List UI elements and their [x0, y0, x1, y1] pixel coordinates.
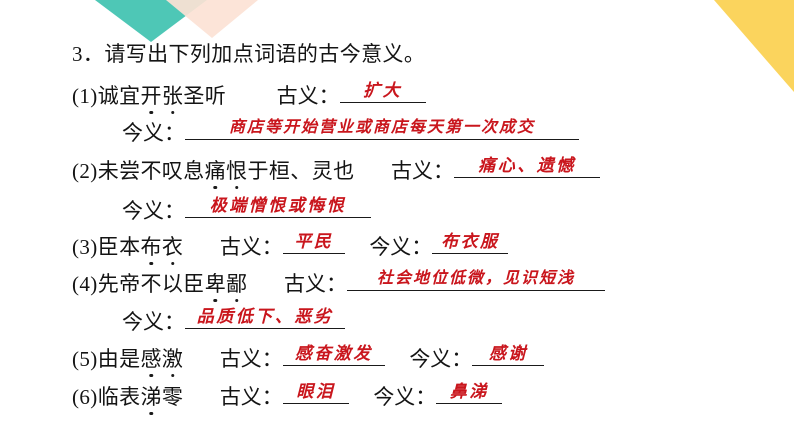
item-5-ancient-answer: 感奋激发	[295, 345, 373, 362]
item-3-ancient-answer: 平民	[294, 233, 333, 250]
item-6-ancient-label: 古义：	[220, 385, 283, 409]
item-1-index: (1)	[72, 84, 98, 108]
item-1-ancient-label: 古义：	[277, 84, 340, 108]
item-5-sentence-dotted: 感激	[141, 349, 184, 370]
item-6-row: (6)临表涕零 古义：眼泪 今义：鼻涕	[72, 381, 502, 408]
item-4-ancient-blank[interactable]: 社会地位低微，见识短浅	[347, 268, 605, 291]
item-2-row: (2)未尝不叹息痛恨于桓、灵也 古义：痛心、遗憾	[72, 155, 600, 182]
emphasis-dot-char: 布	[141, 237, 162, 258]
item-6-modern-answer: 鼻涕	[450, 383, 489, 400]
item-6-sentence-dotted: 涕	[141, 387, 162, 408]
item-2-sentence-dotted: 痛恨	[205, 161, 248, 182]
item-1-sentence-pre: 诚宜	[98, 84, 141, 108]
item-2-ancient-blank[interactable]: 痛心、遗憾	[454, 155, 600, 178]
item-3-row: (3)臣本布衣 古义：平民 今义：布衣服	[72, 231, 508, 258]
item-6-ancient-blank[interactable]: 眼泪	[283, 381, 349, 404]
item-5-row: (5)由是感激 古义：感奋激发 今义：感谢	[72, 343, 544, 370]
item-6-ancient-answer: 眼泪	[296, 383, 335, 400]
item-5-modern-label: 今义：	[409, 347, 472, 371]
item-5-modern-blank[interactable]: 感谢	[472, 343, 544, 366]
item-5-modern-answer: 感谢	[489, 345, 528, 362]
emphasis-dot-char: 感	[141, 349, 162, 370]
emphasis-dot-char: 开	[141, 86, 162, 107]
emphasis-dot-char: 痛	[205, 161, 226, 182]
item-6-sentence-pre: 临表	[98, 385, 141, 409]
emphasis-dot-char: 恨	[226, 161, 247, 182]
emphasis-dot-char: 衣	[162, 237, 183, 258]
item-4-modern-row: 今义：品质低下、恶劣	[122, 306, 345, 333]
item-4-ancient-answer: 社会地位低微，见识短浅	[377, 271, 575, 287]
item-2-ancient-answer: 痛心、遗憾	[478, 157, 576, 174]
item-5-ancient-blank[interactable]: 感奋激发	[283, 343, 385, 366]
item-1-sentence-dotted: 开张	[141, 86, 184, 107]
emphasis-dot-char: 激	[162, 349, 183, 370]
item-2-modern-blank[interactable]: 极端憎恨或悔恨	[185, 195, 371, 218]
item-3-modern-label: 今义：	[369, 235, 432, 259]
item-1-modern-row: 今义：商店等开始营业或商店每天第一次成交	[122, 117, 579, 144]
item-4-ancient-label: 古义：	[284, 272, 347, 296]
item-3-modern-blank[interactable]: 布衣服	[432, 231, 508, 254]
emphasis-dot-char: 鄙	[226, 274, 247, 295]
item-2-modern-answer: 极端憎恨或悔恨	[210, 197, 347, 214]
item-3-modern-answer: 布衣服	[441, 233, 500, 250]
question-prompt: 请写出下列加点词语的古今意义。	[104, 42, 425, 66]
item-6-index: (6)	[72, 385, 98, 409]
item-3-ancient-label: 古义：	[220, 235, 283, 259]
item-4-sentence-dotted: 卑鄙	[205, 274, 248, 295]
item-4-modern-answer: 品质低下、恶劣	[197, 308, 334, 325]
item-4-modern-blank[interactable]: 品质低下、恶劣	[185, 306, 345, 329]
item-4-row: (4)先帝不以臣卑鄙 古义：社会地位低微，见识短浅	[72, 268, 605, 295]
item-1-ancient-answer: 扩大	[363, 82, 402, 99]
item-1-ancient-blank[interactable]: 扩大	[340, 80, 426, 103]
worksheet-content: 3．请写出下列加点词语的古今意义。 (1)诚宜开张圣听 古义：扩大 今义：商店等…	[0, 0, 794, 447]
item-4-sentence-pre: 先帝不以臣	[98, 272, 205, 296]
item-1-modern-blank[interactable]: 商店等开始营业或商店每天第一次成交	[185, 117, 579, 140]
item-4-modern-label: 今义：	[122, 310, 185, 334]
item-1-row: (1)诚宜开张圣听 古义：扩大	[72, 80, 426, 107]
item-1-sentence-post: 圣听	[183, 84, 226, 108]
item-6-modern-label: 今义：	[373, 385, 436, 409]
item-5-ancient-label: 古义：	[220, 347, 283, 371]
item-4-index: (4)	[72, 272, 98, 296]
item-2-index: (2)	[72, 159, 98, 183]
item-2-modern-label: 今义：	[122, 199, 185, 223]
item-5-sentence-pre: 由是	[98, 347, 141, 371]
item-6-sentence-post: 零	[162, 385, 183, 409]
item-2-sentence-post: 于桓、灵也	[248, 159, 355, 183]
item-3-sentence-dotted: 布衣	[141, 237, 184, 258]
emphasis-dot-char: 涕	[141, 387, 162, 408]
item-2-sentence-pre: 未尝不叹息	[98, 159, 205, 183]
item-5-index: (5)	[72, 347, 98, 371]
emphasis-dot-char: 张	[162, 86, 183, 107]
item-1-modern-answer: 商店等开始营业或商店每天第一次成交	[229, 120, 535, 136]
item-1-modern-label: 今义：	[122, 121, 185, 145]
item-3-index: (3)	[72, 235, 98, 259]
item-3-ancient-blank[interactable]: 平民	[283, 231, 345, 254]
question-stem: 3．请写出下列加点词语的古今意义。	[72, 44, 425, 65]
question-number: 3．	[72, 42, 104, 66]
item-2-ancient-label: 古义：	[391, 159, 454, 183]
item-2-modern-row: 今义：极端憎恨或悔恨	[122, 195, 371, 222]
item-3-sentence-pre: 臣本	[98, 235, 141, 259]
emphasis-dot-char: 卑	[205, 274, 226, 295]
item-6-modern-blank[interactable]: 鼻涕	[436, 381, 502, 404]
